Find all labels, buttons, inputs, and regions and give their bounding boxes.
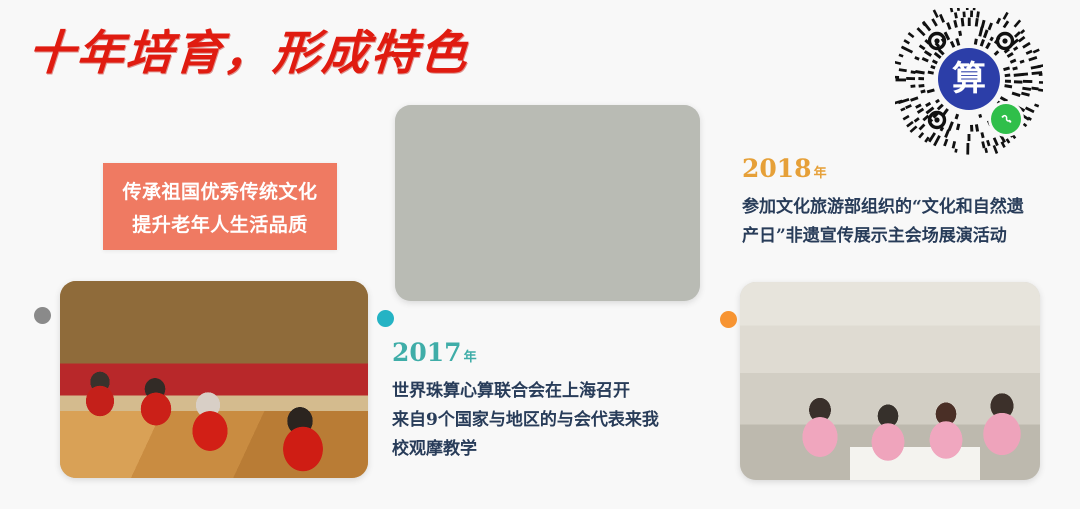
statement-line-1: 传承祖国优秀传统文化 bbox=[122, 177, 317, 204]
photo-exhibition-booth-image bbox=[740, 282, 1040, 480]
event-2018-line-1: 参加文化旅游部组织的“文化和自然遗 bbox=[742, 193, 1024, 222]
qr-center-glyph: 算 bbox=[952, 62, 986, 96]
photo-abacus-hall-image bbox=[60, 281, 368, 478]
statement-box: 传承祖国优秀传统文化 提升老年人生活品质 bbox=[103, 163, 337, 250]
event-2018-year: 2018年 bbox=[742, 156, 1024, 181]
timeline-dot-teal bbox=[377, 310, 394, 327]
photo-classroom-lecture-image bbox=[395, 105, 700, 301]
event-2017-line-2: 来自9个国家与地区的与会代表来我 bbox=[392, 406, 659, 435]
event-2017-body: 世界珠算心算联合会在上海召开 来自9个国家与地区的与会代表来我 校观摩教学 bbox=[392, 377, 659, 465]
timeline-dot-orange bbox=[720, 311, 737, 328]
qr-code[interactable]: 算 bbox=[895, 8, 1043, 156]
event-2018-line-2: 产日”非遗宣传展示主会场展演活动 bbox=[742, 222, 1024, 251]
qr-center-logo: 算 bbox=[938, 48, 1000, 110]
event-2017-year-number: 2017 bbox=[392, 338, 462, 367]
timeline-dot-grey bbox=[34, 307, 51, 324]
slide-canvas: 十年培育，形成特色 传承祖国优秀传统文化 提升老年人生活品质 2017年 世界珠… bbox=[0, 0, 1080, 509]
event-2018: 2018年 参加文化旅游部组织的“文化和自然遗 产日”非遗宣传展示主会场展演活动 bbox=[742, 156, 1024, 251]
event-2018-year-number: 2018 bbox=[742, 154, 812, 183]
wechat-miniprogram-badge-icon bbox=[991, 104, 1021, 134]
photo-classroom-lecture bbox=[395, 105, 700, 301]
event-2017-line-3: 校观摩教学 bbox=[392, 435, 659, 464]
photo-exhibition-booth bbox=[740, 282, 1040, 480]
event-2018-year-suffix: 年 bbox=[814, 166, 827, 181]
event-2017-line-1: 世界珠算心算联合会在上海召开 bbox=[392, 377, 659, 406]
page-title: 十年培育，形成特色 bbox=[26, 14, 472, 83]
event-2017: 2017年 世界珠算心算联合会在上海召开 来自9个国家与地区的与会代表来我 校观… bbox=[392, 340, 659, 465]
statement-line-2: 提升老年人生活品质 bbox=[132, 210, 308, 237]
event-2018-body: 参加文化旅游部组织的“文化和自然遗 产日”非遗宣传展示主会场展演活动 bbox=[742, 193, 1024, 251]
event-2017-year-suffix: 年 bbox=[464, 350, 477, 365]
photo-abacus-hall bbox=[60, 281, 368, 478]
event-2017-year: 2017年 bbox=[392, 340, 659, 365]
